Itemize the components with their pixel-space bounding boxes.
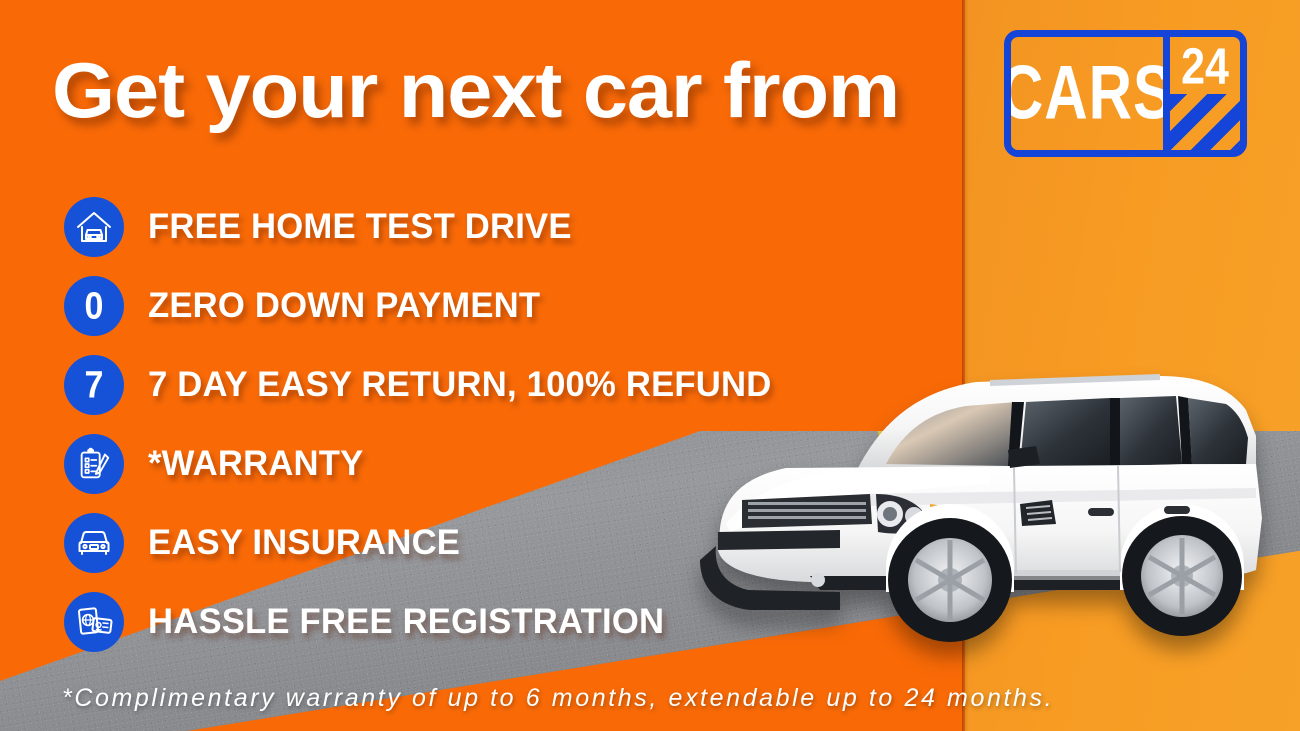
logo-divider [1163, 35, 1170, 152]
badge-number: 0 [85, 287, 104, 325]
logo-number: 24 [1170, 39, 1240, 97]
seven-icon: 7 [64, 355, 124, 415]
home-garage-car-icon [64, 197, 124, 257]
badge-number: 7 [85, 366, 104, 404]
page-title: Get your next car from [52, 50, 988, 132]
feature-label: *WARRANTY [148, 444, 363, 484]
documents-id-icon [64, 592, 124, 652]
zero-icon: 0 [64, 276, 124, 336]
car-front-icon [64, 513, 124, 573]
feature-list: FREE HOME TEST DRIVE 0 ZERO DOWN PAYMENT… [64, 196, 778, 653]
feature-label: HASSLE FREE REGISTRATION [148, 602, 664, 642]
clipboard-pen-icon [64, 434, 124, 494]
feature-label: ZERO DOWN PAYMENT [148, 286, 540, 326]
list-item: HASSLE FREE REGISTRATION [64, 591, 778, 653]
feature-label: 7 DAY EASY RETURN, 100% REFUND [148, 365, 771, 405]
feature-label: EASY INSURANCE [148, 523, 460, 563]
advertisement-banner: Get your next car from CARS 24 [0, 0, 1300, 731]
list-item: EASY INSURANCE [64, 512, 778, 574]
suv-vehicle-image [690, 318, 1290, 658]
logo-word: CARS [1013, 30, 1160, 157]
list-item: *WARRANTY [64, 433, 778, 495]
list-item: FREE HOME TEST DRIVE [64, 196, 778, 258]
list-item: 7 7 DAY EASY RETURN, 100% REFUND [64, 354, 778, 416]
disclaimer-text: *Complimentary warranty of up to 6 month… [62, 684, 1054, 713]
feature-label: FREE HOME TEST DRIVE [148, 207, 572, 247]
logo-stripes [1170, 94, 1240, 150]
list-item: 0 ZERO DOWN PAYMENT [64, 275, 778, 337]
cars24-logo[interactable]: CARS 24 [1004, 30, 1247, 157]
